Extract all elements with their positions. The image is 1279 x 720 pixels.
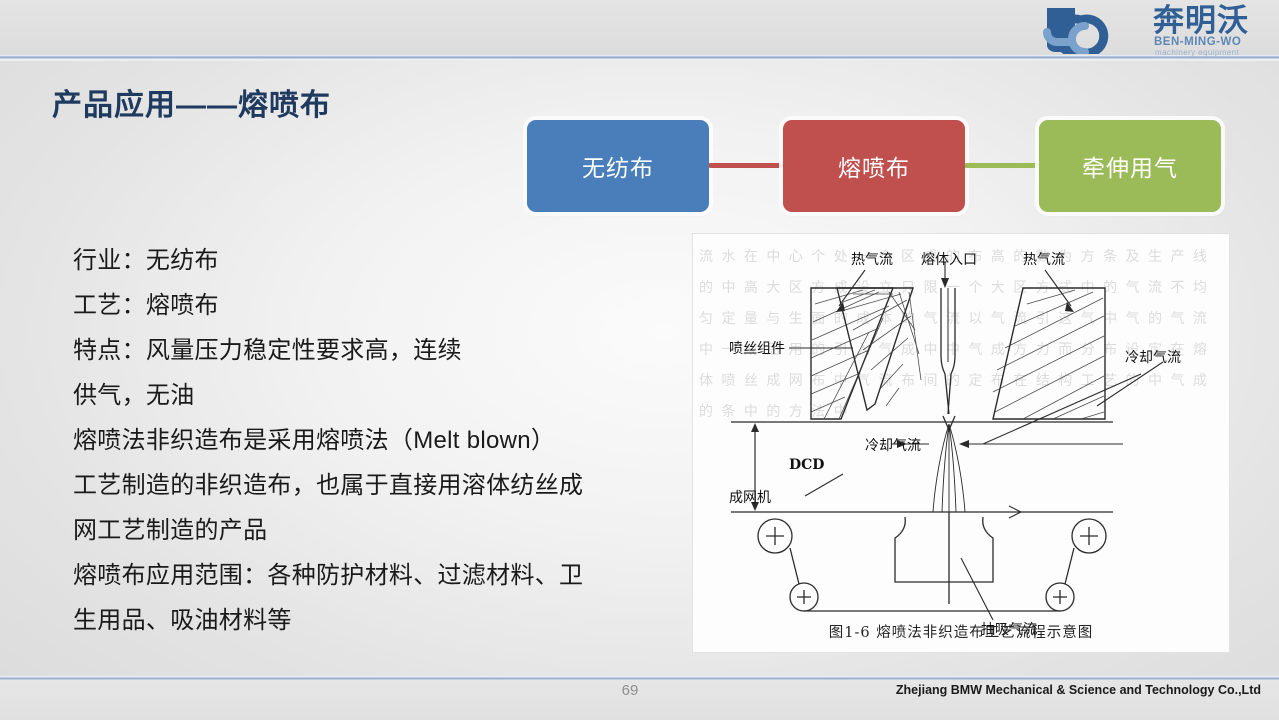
slide-canvas: 奔明沃 BEN-MING-WO machinery equipment 产品应用…	[0, 0, 1279, 720]
label-spinneret: 喷丝组件	[729, 341, 785, 357]
flow-box-meltblown[interactable]: 熔喷布	[783, 120, 965, 212]
body-line-3: 特点：风量压力稳定性要求高，连续	[73, 328, 673, 373]
flow-box-nonwoven[interactable]: 无纺布	[527, 120, 709, 212]
page-number: 69	[600, 682, 660, 699]
label-melt-inlet: 熔体入口	[921, 252, 977, 268]
figure-schematic: 热气流 熔体入口 热气流 喷丝组件 冷却气流 冷却气流 DCD 成网机 抽吸气流	[693, 234, 1229, 652]
body-line-6: 工艺制造的非织造布，也属于直接用溶体纺丝成	[73, 463, 673, 508]
body-line-8: 熔喷布应用范围：各种防护材料、过滤材料、卫	[73, 553, 673, 598]
flow-connector-1	[709, 163, 785, 168]
flow-box-drawing-air[interactable]: 牵伸用气	[1039, 120, 1221, 212]
flow-connector-2	[965, 163, 1041, 168]
company-name-footer: Zhejiang BMW Mechanical & Science and Te…	[896, 683, 1261, 697]
label-hot-air-left: 热气流	[851, 252, 893, 268]
body-line-5: 熔喷法非织造布是采用熔喷法（Melt blown）	[73, 418, 673, 463]
process-flow-diagram: 无纺布 熔喷布 牵伸用气	[0, 0, 1279, 230]
figure-caption: 图1-6 熔喷法非织造布工艺流程示意图	[693, 621, 1229, 642]
label-dcd: DCD	[789, 457, 824, 473]
label-cooling-air-right: 冷却气流	[1125, 350, 1181, 366]
label-hot-air-right: 热气流	[1023, 252, 1065, 268]
body-line-9: 生用品、吸油材料等	[73, 598, 673, 643]
body-text-block: 行业：无纺布 工艺：熔喷布 特点：风量压力稳定性要求高，连续 供气，无油 熔喷法…	[73, 238, 673, 643]
body-line-2: 工艺：熔喷布	[73, 283, 673, 328]
body-line-1: 行业：无纺布	[73, 238, 673, 283]
meltblown-process-figure: 流 水 在 中 心 个 处 一 个 区 成 的 布 高 的 数 为 方 条 及 …	[692, 233, 1230, 653]
body-line-7: 网工艺制造的产品	[73, 508, 673, 553]
label-web-former: 成网机	[729, 490, 771, 506]
label-cooling-air-center: 冷却气流	[865, 438, 921, 454]
body-line-4: 供气，无油	[73, 373, 673, 418]
